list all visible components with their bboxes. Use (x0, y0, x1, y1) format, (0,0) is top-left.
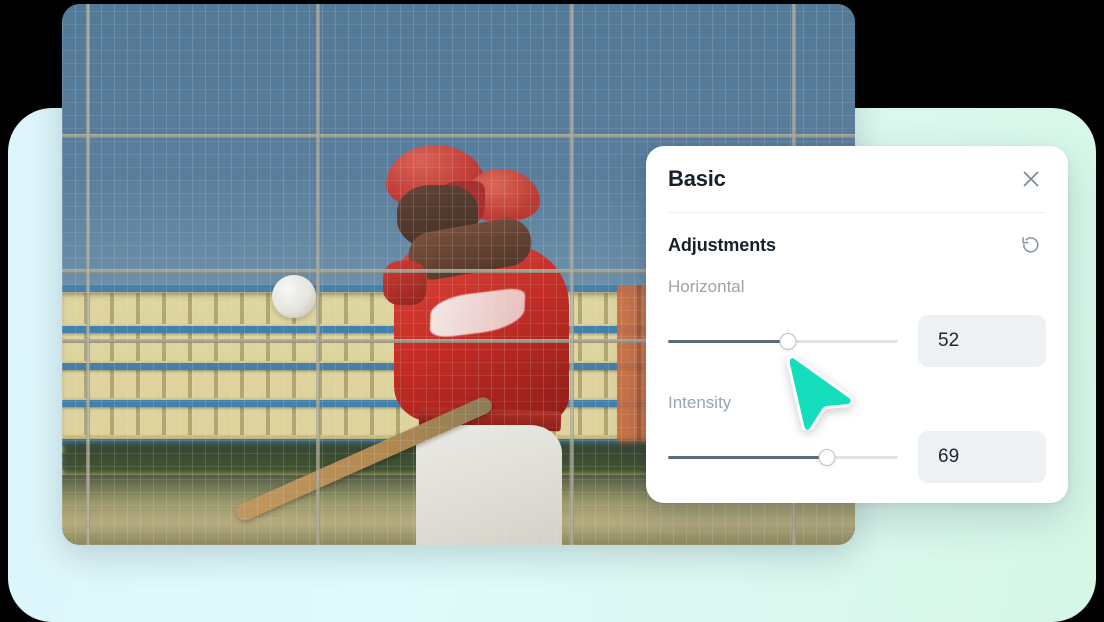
intensity-value[interactable]: 69 (918, 431, 1046, 483)
screenshot-root: Basic Adjustments Horizontal (0, 0, 1104, 622)
adjustments-panel: Basic Adjustments Horizontal (646, 146, 1068, 503)
adjustments-header: Adjustments (668, 213, 1046, 277)
section-title: Adjustments (668, 235, 776, 256)
horizontal-slider[interactable] (668, 331, 898, 351)
adjustment-label: Intensity (668, 393, 1046, 413)
close-icon[interactable] (1016, 164, 1046, 194)
reset-icon[interactable] (1016, 230, 1046, 260)
intensity-slider[interactable] (668, 447, 898, 467)
slider-fill (668, 340, 788, 343)
adjustment-horizontal: Horizontal 52 (668, 277, 1046, 367)
adjustment-label: Horizontal (668, 277, 1046, 297)
adjustment-intensity: Intensity 69 (668, 393, 1046, 483)
horizontal-value[interactable]: 52 (918, 315, 1046, 367)
slider-thumb[interactable] (779, 333, 796, 350)
slider-thumb[interactable] (818, 449, 835, 466)
panel-title: Basic (668, 166, 726, 192)
panel-header: Basic (668, 146, 1046, 212)
slider-fill (668, 456, 827, 459)
